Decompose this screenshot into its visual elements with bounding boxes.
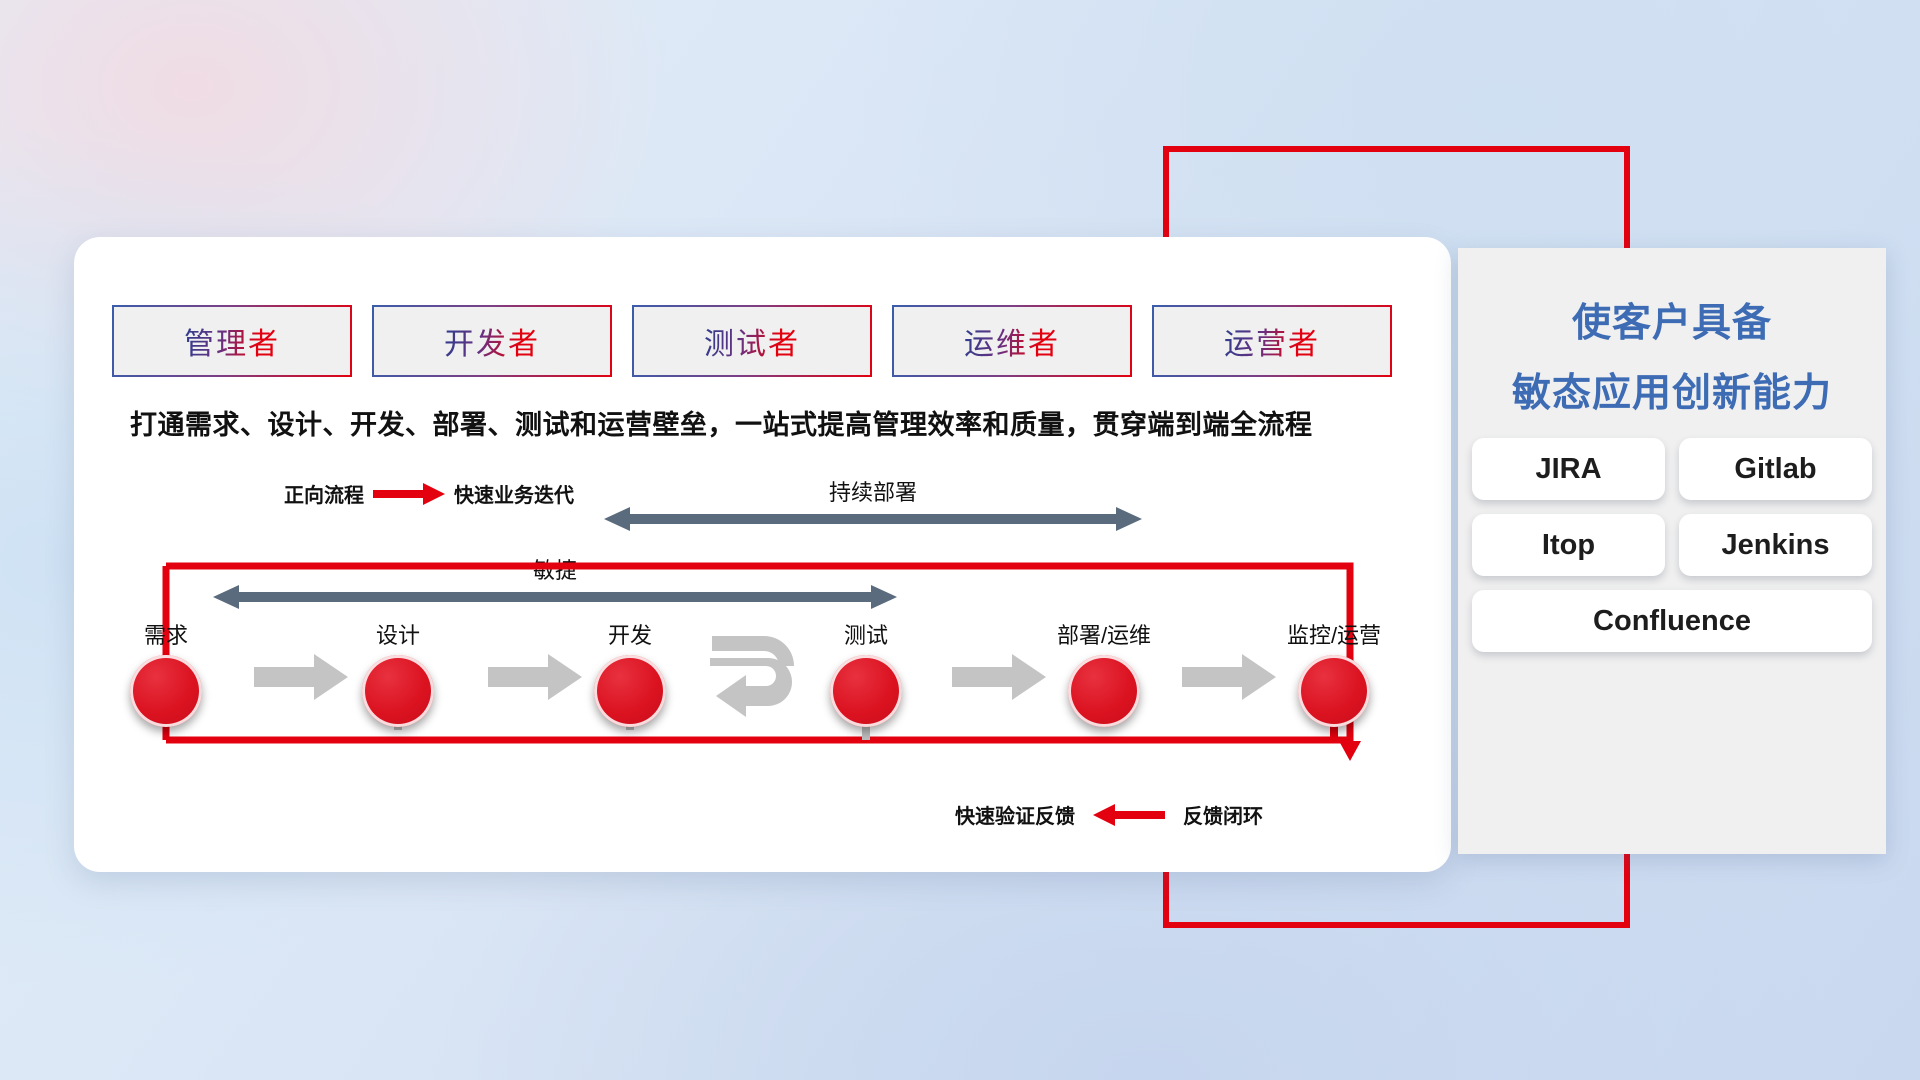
stage-label: 设计 (338, 618, 458, 650)
headline-text: 打通需求、设计、开发、部署、测试和运营壁垒，一站式提高管理效率和质量，贯穿端到端… (130, 403, 1430, 442)
double-arrow-icon (604, 505, 1142, 533)
stage-label: 监控/运营 (1274, 618, 1394, 650)
arrow-right-icon (373, 483, 445, 505)
tool-chip-itop[interactable]: Itop (1472, 514, 1665, 576)
panel-title-line2: 敏态应用创新能力 (1458, 362, 1886, 418)
feedback-caption: 快速验证反馈 反馈闭环 (955, 800, 1263, 829)
role-box-ops[interactable]: 运维者 (892, 305, 1132, 377)
role-box-developer[interactable]: 开发者 (372, 305, 612, 377)
stage-development[interactable]: 开发 (570, 618, 690, 727)
role-label: 测试者 (704, 319, 800, 363)
stage-design[interactable]: 设计 (338, 618, 458, 727)
role-label: 运营者 (1224, 319, 1320, 363)
stage-label: 需求 (106, 618, 226, 650)
measure-agile: 敏捷 (213, 583, 897, 616)
stage-dot (830, 655, 902, 727)
feedback-right-label: 反馈闭环 (1183, 800, 1263, 829)
stage-dot (594, 655, 666, 727)
forward-flow-left-label: 正向流程 (284, 479, 364, 508)
role-box-row: 管理者 开发者 测试者 运维者 运营者 (112, 305, 1392, 377)
stage-label: 测试 (806, 618, 926, 650)
role-label: 管理者 (184, 319, 280, 363)
value-panel: 使客户具备 敏态应用创新能力 JIRA Gitlab Itop Jenkins … (1458, 248, 1886, 854)
forward-flow-right-label: 快速业务迭代 (454, 479, 574, 508)
role-box-manager[interactable]: 管理者 (112, 305, 352, 377)
stage-dot (362, 655, 434, 727)
tool-chip-confluence[interactable]: Confluence (1472, 590, 1872, 652)
tool-chip-jira[interactable]: JIRA (1472, 438, 1665, 500)
tool-chip-jenkins[interactable]: Jenkins (1679, 514, 1872, 576)
stage-label: 开发 (570, 618, 690, 650)
stage-dot (1298, 655, 1370, 727)
role-box-operations[interactable]: 运营者 (1152, 305, 1392, 377)
stage-label: 部署/运维 (1044, 618, 1164, 650)
measure-label: 持续部署 (604, 475, 1142, 507)
stage-requirements[interactable]: 需求 (106, 618, 226, 727)
forward-flow-caption: 正向流程 快速业务迭代 (284, 479, 574, 508)
tool-chip-gitlab[interactable]: Gitlab (1679, 438, 1872, 500)
stage-deploy-ops[interactable]: 部署/运维 (1044, 618, 1164, 727)
stage-dot (1068, 655, 1140, 727)
role-label: 开发者 (444, 319, 540, 363)
feedback-left-label: 快速验证反馈 (955, 800, 1075, 829)
role-box-tester[interactable]: 测试者 (632, 305, 872, 377)
tool-chip-list: JIRA Gitlab Itop Jenkins Confluence (1472, 438, 1872, 652)
stage-testing[interactable]: 测试 (806, 618, 926, 727)
measure-continuous-deployment: 持续部署 (604, 505, 1142, 538)
double-arrow-icon (213, 583, 897, 611)
role-label: 运维者 (964, 319, 1060, 363)
panel-title-line1: 使客户具备 (1458, 292, 1886, 348)
measure-label: 敏捷 (213, 553, 897, 585)
stage-dot (130, 655, 202, 727)
arrow-left-icon (1093, 804, 1165, 826)
stage-monitor-operations[interactable]: 监控/运营 (1274, 618, 1394, 727)
